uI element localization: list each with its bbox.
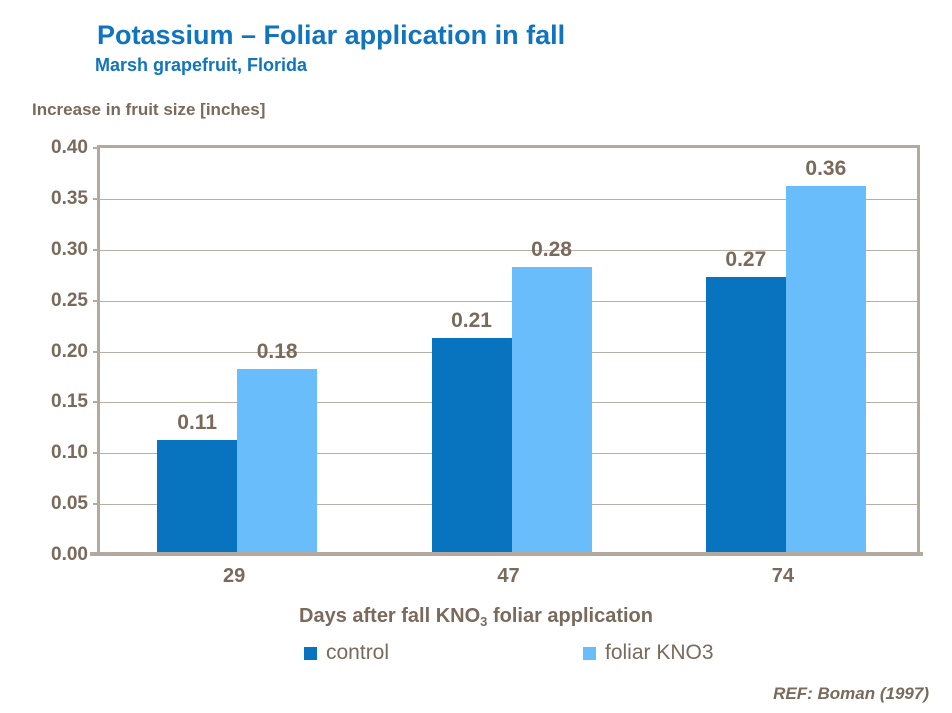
y-tick-label: 0.00 [51, 544, 88, 566]
y-tick-mark [93, 452, 100, 454]
legend-label-control: control [326, 641, 389, 665]
bar-value-label: 0.11 [177, 411, 217, 435]
bar-value-label: 0.18 [257, 340, 298, 364]
chart-subtitle: Marsh grapefruit, Florida [95, 55, 307, 76]
y-tick-label: 0.20 [51, 341, 88, 363]
bar-foliar-kno3-74[interactable]: 0.36 [786, 186, 866, 552]
gridline [100, 148, 917, 149]
legend-label-foliar: foliar KNO3 [605, 641, 714, 665]
legend-swatch-control [304, 647, 317, 660]
y-tick-label: 0.10 [51, 442, 88, 464]
legend-swatch-foliar [583, 647, 596, 660]
y-tick-mark [93, 300, 100, 302]
y-tick-mark [93, 249, 100, 251]
y-tick-label: 0.35 [51, 188, 88, 210]
y-tick-mark [93, 351, 100, 353]
bar-foliar-kno3-29[interactable]: 0.18 [237, 369, 317, 552]
x-tick-label-74: 74 [772, 565, 794, 588]
y-tick-label: 0.25 [51, 290, 88, 312]
bar-control-74[interactable]: 0.27 [706, 277, 786, 552]
bar-value-label: 0.28 [531, 238, 572, 262]
bar-control-29[interactable]: 0.11 [157, 440, 237, 552]
y-tick-mark [93, 198, 100, 200]
x-axis-line [90, 552, 923, 556]
legend-item-control[interactable]: control [304, 641, 389, 665]
bar-value-label: 0.21 [451, 309, 492, 333]
y-tick-label: 0.05 [51, 493, 88, 515]
y-tick-label: 0.30 [51, 239, 88, 261]
bar-foliar-kno3-47[interactable]: 0.28 [512, 267, 592, 552]
legend-item-foliar[interactable]: foliar KNO3 [583, 641, 714, 665]
plot-area: 0.400.350.300.250.200.150.100.050.000.11… [97, 145, 920, 552]
bar-value-label: 0.36 [805, 157, 846, 181]
y-tick-mark [93, 147, 100, 149]
x-axis-title: Days after fall KNO3 foliar application [0, 605, 952, 628]
bar-control-47[interactable]: 0.21 [432, 338, 512, 552]
y-axis-title: Increase in fruit size [inches] [32, 100, 265, 120]
chart-title: Potassium – Foliar application in fall [97, 20, 565, 51]
x-tick-label-29: 29 [223, 565, 245, 588]
y-tick-mark [93, 401, 100, 403]
bar-value-label: 0.27 [725, 248, 766, 272]
x-tick-label-47: 47 [497, 565, 519, 588]
reference-note: REF: Boman (1997) [773, 684, 929, 704]
y-tick-mark [93, 503, 100, 505]
y-tick-label: 0.15 [51, 391, 88, 413]
y-tick-label: 0.40 [51, 137, 88, 159]
chart-legend: control foliar KNO3 [0, 641, 952, 671]
